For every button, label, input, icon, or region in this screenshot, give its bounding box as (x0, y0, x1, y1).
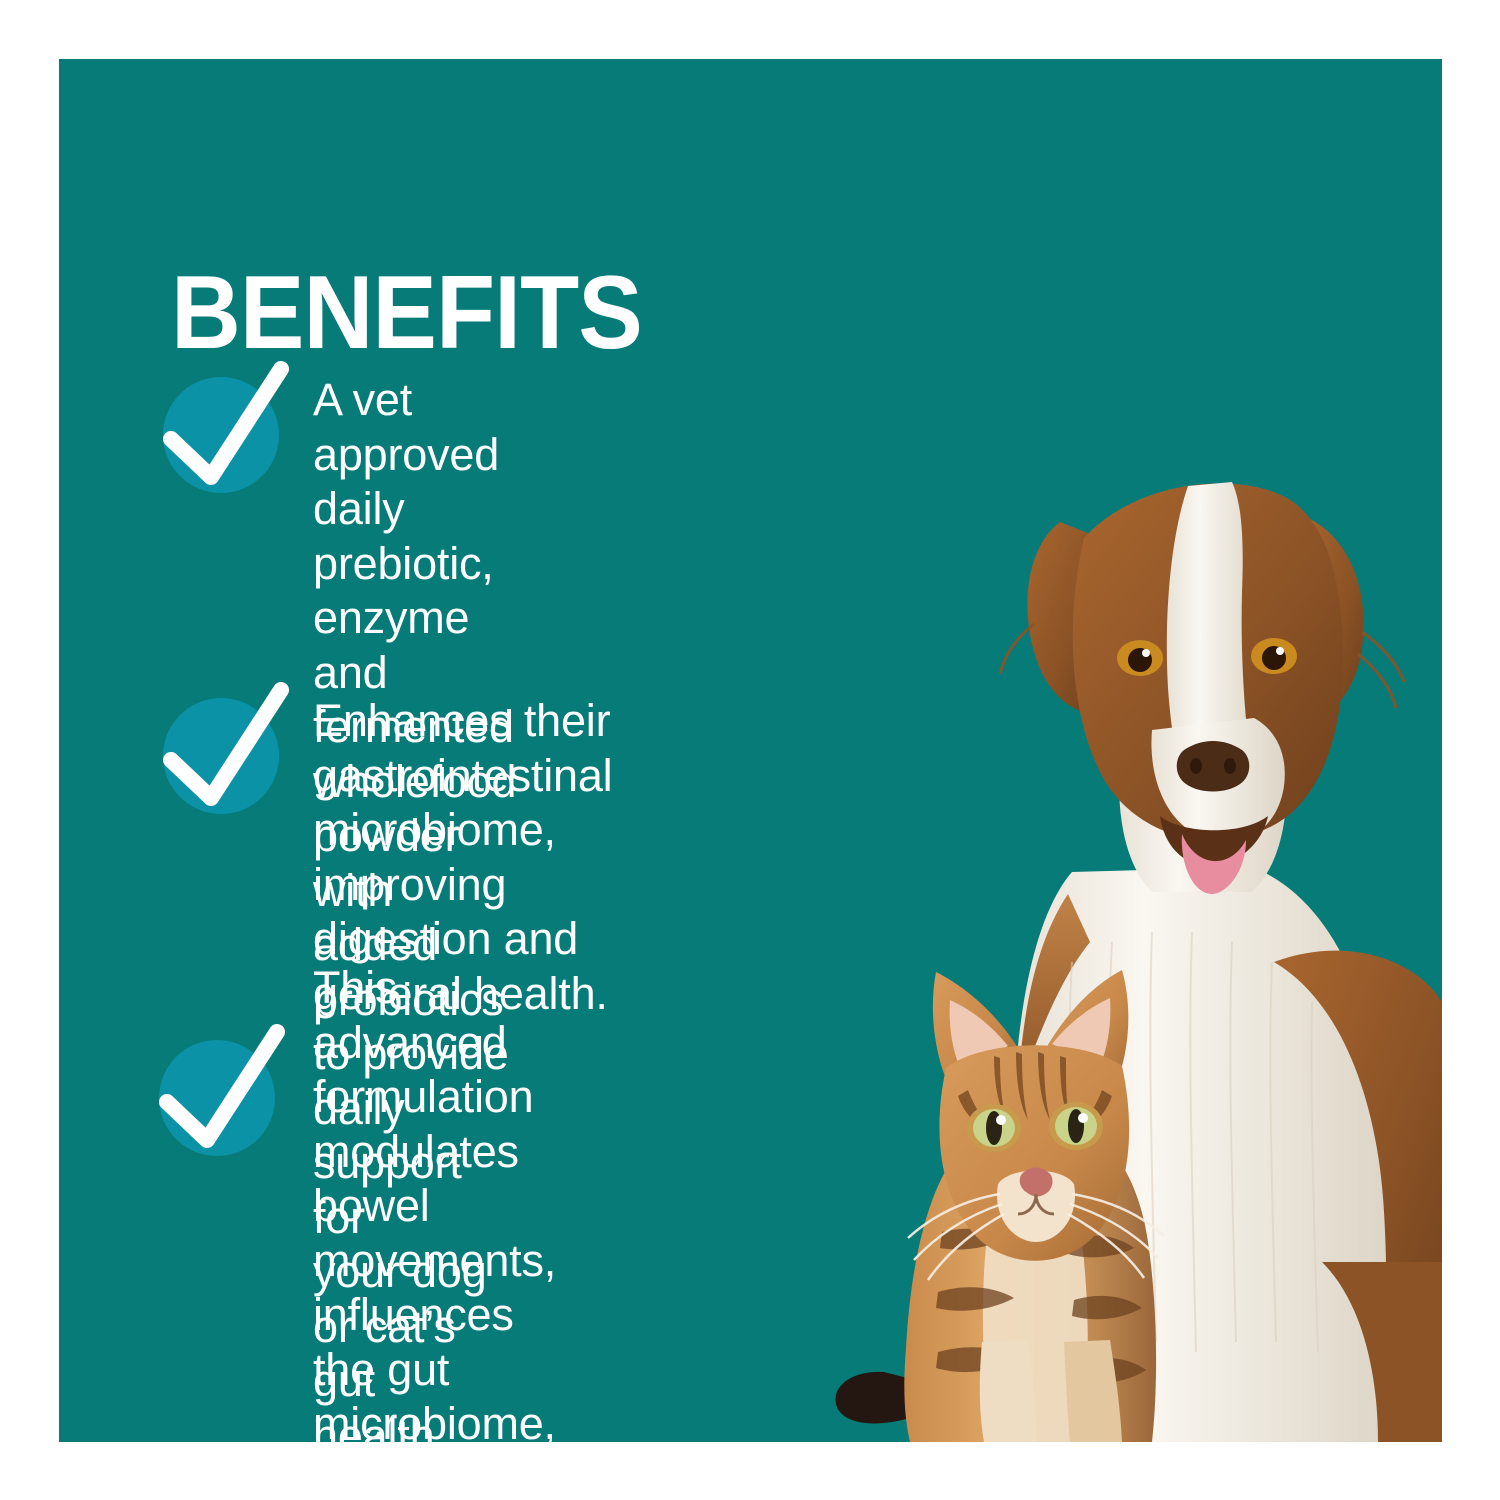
teal-content-panel: BENEFITS A vet approved daily prebiotic,… (59, 59, 1442, 1442)
benefits-list: A vet approved daily prebiotic, enzyme a… (59, 59, 1442, 1442)
check-circle-icon (163, 371, 287, 495)
check-circle-icon (159, 1034, 283, 1158)
check-circle-icon (163, 692, 287, 816)
list-item-label: This advanced formulation modulates bowe… (313, 961, 556, 1442)
benefits-panel-page: BENEFITS A vet approved daily prebiotic,… (0, 0, 1500, 1500)
